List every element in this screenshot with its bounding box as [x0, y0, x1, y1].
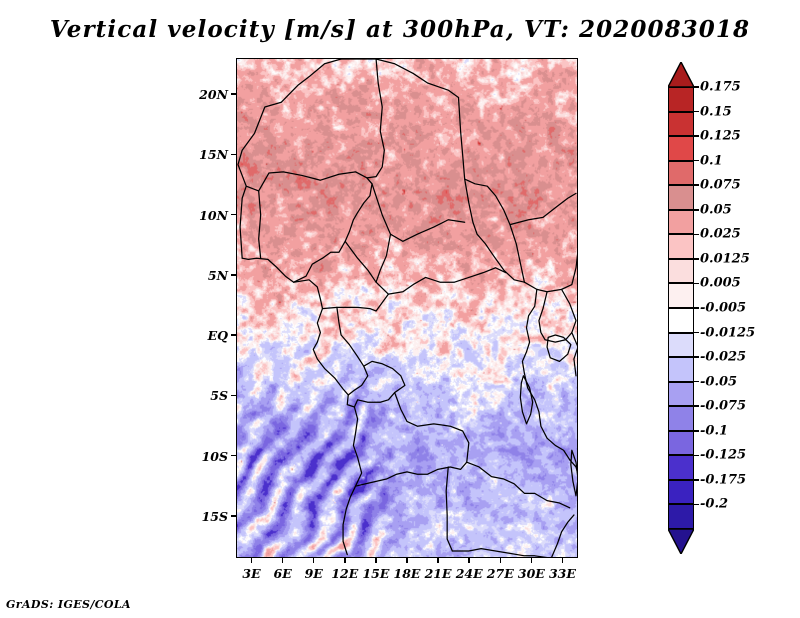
y-axis-tick [231, 93, 236, 95]
colorbar-tick-label: -0.05 [700, 374, 737, 389]
x-axis-tick-label: 24E [455, 566, 483, 581]
x-axis-tick [468, 558, 470, 563]
x-axis-tick-label: 9E [300, 566, 328, 581]
x-axis-tick-label: 6E [269, 566, 297, 581]
colorbar-tick [694, 86, 699, 88]
colorbar-tick [694, 111, 699, 113]
colorbar[interactable]: 0.1750.150.1250.10.0750.050.0250.01250.0… [668, 62, 790, 554]
colorbar-arrow-max [668, 62, 694, 87]
x-axis-tick-label: 12E [331, 566, 359, 581]
colorbar-tick [694, 135, 699, 137]
y-axis-tick [231, 515, 236, 517]
colorbar-tick-label: 0.15 [700, 104, 732, 119]
map-plot-panel[interactable] [236, 58, 578, 558]
colorbar-tick-label: 0.175 [700, 80, 741, 95]
colorbar-band [668, 308, 694, 333]
colorbar-tick-label: -0.175 [700, 472, 746, 487]
x-axis-tick [531, 558, 533, 563]
x-axis-tick-label: 33E [548, 566, 576, 581]
colorbar-tick [694, 184, 699, 186]
colorbar-band [668, 234, 694, 259]
colorbar-band [668, 357, 694, 382]
credit-label: GrADS: IGES/COLA [6, 598, 131, 611]
colorbar-band [668, 283, 694, 308]
colorbar-band [668, 210, 694, 235]
y-axis-tick-label: 15S [188, 509, 228, 524]
colorbar-tick [694, 332, 699, 334]
page-title: Vertical velocity [m/s] at 300hPa, VT: 2… [0, 16, 800, 43]
colorbar-tick-label: 0.075 [700, 178, 741, 193]
colorbar-band [668, 185, 694, 210]
colorbar-tick-label: 0.125 [700, 129, 741, 144]
colorbar-tick [694, 504, 699, 506]
y-axis-tick [231, 455, 236, 457]
colorbar-tick [694, 234, 699, 236]
colorbar-band [668, 382, 694, 407]
x-axis-tick [562, 558, 564, 563]
colorbar-band [668, 259, 694, 284]
colorbar-band [668, 504, 694, 529]
colorbar-band [668, 161, 694, 186]
colorbar-tick-label: -0.025 [700, 350, 746, 365]
colorbar-tick [694, 160, 699, 162]
colorbar-tick [694, 209, 699, 211]
colorbar-tick-label: -0.125 [700, 448, 746, 463]
x-axis-tick-label: 30E [517, 566, 545, 581]
colorbar-tick [694, 307, 699, 309]
x-axis-tick [251, 558, 253, 563]
x-axis-tick [500, 558, 502, 563]
colorbar-tick-label: -0.1 [700, 423, 728, 438]
colorbar-tick-label: -0.2 [700, 497, 728, 512]
colorbar-band [668, 112, 694, 137]
x-axis-tick-label: 18E [393, 566, 421, 581]
colorbar-band [668, 480, 694, 505]
x-axis-tick [313, 558, 315, 563]
y-axis-tick [231, 395, 236, 397]
colorbar-tick-label: -0.005 [700, 301, 746, 316]
colorbar-band [668, 333, 694, 358]
colorbar-arrow-min [668, 529, 694, 554]
x-axis-tick-label: 3E [238, 566, 266, 581]
y-axis-tick [231, 214, 236, 216]
x-axis-tick [437, 558, 439, 563]
y-axis-tick [231, 334, 236, 336]
colorbar-tick-label: 0.05 [700, 202, 732, 217]
colorbar-tick [694, 381, 699, 383]
colorbar-tick-label: -0.0125 [700, 325, 755, 340]
colorbar-tick [694, 479, 699, 481]
y-axis-tick [231, 154, 236, 156]
colorbar-tick [694, 356, 699, 358]
y-axis-tick-label: 10S [188, 449, 228, 464]
x-axis-tick [406, 558, 408, 563]
x-axis-tick [282, 558, 284, 563]
y-axis-tick-label: 5N [188, 268, 228, 283]
y-axis-tick-label: 10N [188, 208, 228, 223]
colorbar-band [668, 455, 694, 480]
colorbar-band [668, 406, 694, 431]
y-axis-tick-label: 5S [188, 388, 228, 403]
colorbar-band [668, 87, 694, 112]
colorbar-tick-label: -0.075 [700, 399, 746, 414]
colorbar-tick [694, 405, 699, 407]
colorbar-tick [694, 283, 699, 285]
x-axis-tick-label: 21E [424, 566, 452, 581]
colorbar-tick-label: 0.1 [700, 153, 723, 168]
colorbar-tick-label: 0.025 [700, 227, 741, 242]
colorbar-tick-label: 0.0125 [700, 251, 750, 266]
x-axis-tick-label: 15E [362, 566, 390, 581]
colorbar-tick [694, 258, 699, 260]
colorbar-band [668, 136, 694, 161]
x-axis-tick-label: 27E [486, 566, 514, 581]
colorbar-band [668, 431, 694, 456]
colorbar-tick [694, 455, 699, 457]
colorbar-tick-label: 0.005 [700, 276, 741, 291]
y-axis-tick-label: EQ [188, 328, 228, 343]
y-axis-tick-label: 15N [188, 147, 228, 162]
x-axis-tick [344, 558, 346, 563]
y-axis-tick-label: 20N [188, 87, 228, 102]
colorbar-tick [694, 430, 699, 432]
country-borders-overlay [237, 59, 577, 557]
y-axis-tick [231, 274, 236, 276]
x-axis-tick [375, 558, 377, 563]
